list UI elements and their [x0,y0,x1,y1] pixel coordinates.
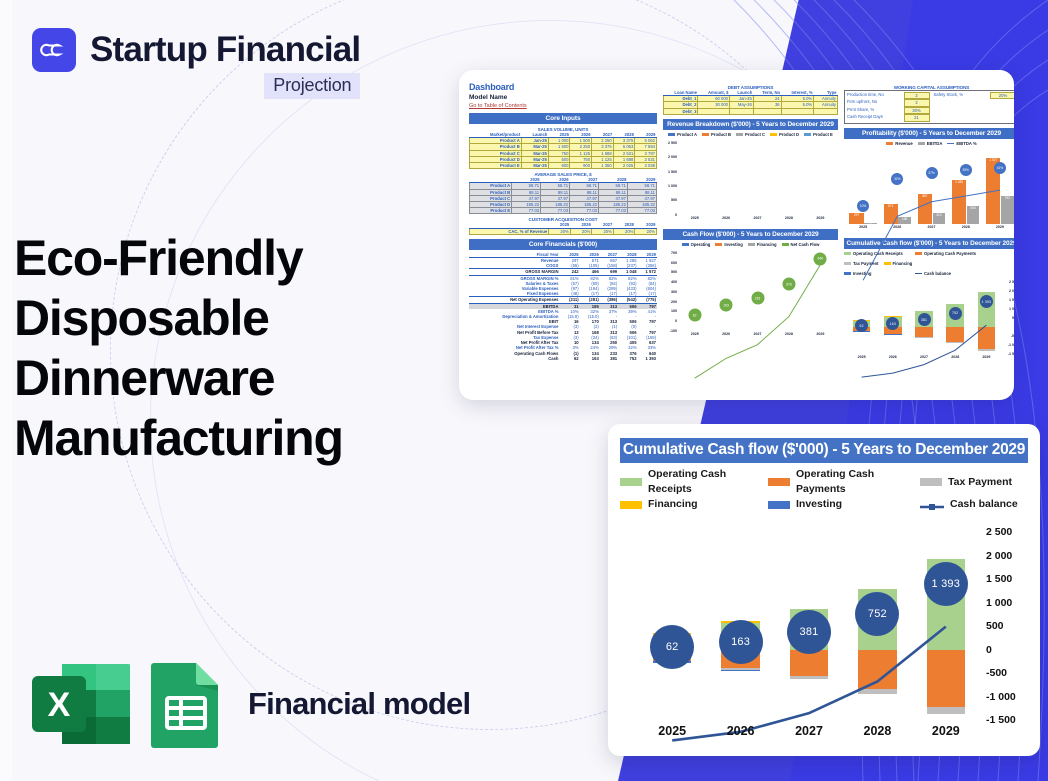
y-tick-label: -500 [986,667,1007,679]
brand-subtitle: Projection [264,73,360,99]
data-point-label: 640 [814,252,827,265]
data-point-label: 381 [787,610,831,654]
cash-flow-legend: Operating Investing Financing Net Cash F… [663,242,838,247]
x-tick-label: 2029 [912,724,980,746]
legend-item-operating-cash-receipts: Operating Cash Receipts [620,467,768,497]
legend-item-financing: Financing [620,497,768,512]
profitability-chart: 297315711858573131 2855061 92779210%32%3… [844,148,1014,234]
dashboard-title: Dashboard [469,82,657,92]
revenue-breakdown-legend: Product A Product B Product C Product D … [663,132,838,137]
legend-item: Product B [702,132,731,137]
wc-row: Cash Receipt Days21 [847,114,930,121]
page-title: Eco-Friendly Disposable Dinnerware Manuf… [14,228,484,468]
headline-line-2: Disposable [14,288,484,348]
y-axis: 2 5002 0001 5001 0005000-500-1 000-1 500 [982,532,1028,720]
debt-assumptions-table: Loan Name Amount, $ Launch Term, No Inte… [663,90,838,115]
decorative-left-strip [0,0,12,781]
legend-swatch [620,501,642,509]
legend-swatch [768,501,790,509]
y-tick-label: 1 500 [986,573,1012,585]
legend-item-cash-balance: Cash balance [920,497,1018,512]
legend-item: Product E [804,132,833,137]
table-row: Product E77.0377.0377.0377.0377.03 [470,208,657,214]
data-point-label: 233 [751,292,764,305]
table-row: Cash621633817521 393 [469,356,657,361]
format-badges: X Financial model [30,660,470,748]
headline-line-4: Manufacturing [14,408,484,468]
legend-item: Product D [770,132,799,137]
core-financials-banner: Core Financials ($'000) [469,239,657,250]
table-row: Debt_230 000May-26365.0%Annuity [664,102,838,108]
chart-title: Cumulative Cash flow ($'000) - 5 Years t… [620,438,1028,463]
revenue-breakdown-banner: Revenue Breakdown ($'000) - 5 Years to D… [663,119,838,130]
data-point-label: 163 [720,299,733,312]
y-axis: 2 5002 0001 500 1 0005000 [663,143,678,215]
data-point-label: 1 393 [924,562,968,606]
revenue-breakdown-chart: 2 5002 0001 500 1 0005000 20252026202720… [663,139,838,225]
table-row: Debt_3 [664,108,838,114]
wc-row: Prmt Share, %30% [847,107,930,114]
table-header-row: Loan Name Amount, $ Launch Term, No Inte… [664,90,838,96]
legend-line-swatch [920,501,944,509]
legend-item: Operating [682,242,711,247]
data-point-label: 1 393 [980,295,993,308]
x-axis: 20252026202720282029 [846,355,1002,364]
legend-swatch [768,478,790,486]
y-tick-label: 500 [986,620,1004,632]
cumulative-cash-flow-card: Cumulative Cash flow ($'000) - 5 Years t… [608,424,1040,756]
y-tick-label: -1 500 [986,714,1016,726]
y-tick-label: 2 500 [986,526,1012,538]
cash-flow-chart: 700600500 400300200 1000-100 62163233376… [663,249,838,341]
dashboard-screenshot-card: Dashboard Model Name Go to Table of Cont… [459,70,1014,400]
dashboard-model-name: Model Name [469,94,657,101]
legend-swatch [920,478,942,486]
y-axis: 2 5002 0001 500 1 0005000 -500-1 000-1 5… [1004,282,1014,354]
legend-item: Product C [736,132,765,137]
x-tick-label: 2027 [775,724,843,746]
x-axis: 20252026202720282029 [679,216,836,225]
google-sheets-icon [148,660,224,748]
legend-item: Investing [715,242,742,247]
table-of-contents-link[interactable]: Go to Table of Contents [469,103,657,109]
dashboard-right-column: WORKING CAPITAL ASSUMPTIONS Production t… [844,82,1014,392]
legend-item: Revenue [886,141,912,146]
headline-line-3: Dinnerware [14,348,484,408]
chart-legend: Operating Cash Receipts Operating Cash P… [620,467,1028,512]
data-point-label: 32% [891,173,903,185]
data-point-label: 10% [857,200,869,212]
data-point-label: 62 [650,625,694,669]
data-point-label: 62 [855,319,868,332]
x-axis: 20252026202720282029 [679,332,836,341]
average-price-table: 2025 2026 2027 2028 2029 Product A58.715… [469,177,657,214]
data-point-label: 62 [688,309,701,322]
cac-table: 2025 2026 2027 2028 2029 CAC, % of Reven… [469,222,657,234]
wc-row: Firm upfront, No2 [847,99,930,106]
core-financials-table: Fiscal Year 2025 2026 2027 2028 2029 Rev… [469,252,657,361]
legend-item: EBITDA % [947,141,976,146]
e-loop-icon [32,28,76,72]
profitability-banner: Profitability ($'000) - 5 Years to Decem… [844,128,1014,139]
table-row: CAC, % of Revenue20%20%20%20%20% [470,228,657,234]
data-point-label: 39% [960,164,972,176]
bars-and-line: 621633817521 393 [638,532,980,720]
profitability-legend: Revenue EBITDA EBITDA % [844,141,1014,146]
table-header-row: Market/product Launch 2025 2026 2027 202… [470,132,657,138]
data-point-label: 37% [926,167,938,179]
cumulative-cash-flow-mini-chart: 2 5002 0001 500 1 0005000 -500-1 000-1 5… [844,278,1014,364]
sales-volume-table: Market/product Launch 2025 2026 2027 202… [469,132,657,169]
y-tick-label: 0 [986,644,992,656]
legend-item-investing: Investing [768,497,920,512]
legend-item: Net Cash Flow [782,242,820,247]
table-row: Product EMar-256009001 3502 0253 038 [470,163,657,169]
legend-item: Product A [668,132,697,137]
headline-line-1: Eco-Friendly [14,228,484,288]
data-point-label: 41% [994,162,1006,174]
dashboard-middle-column: DEBT ASSUMPTIONS Loan Name Amount, $ Lau… [663,82,838,392]
y-tick-label: -1 000 [986,691,1016,703]
core-inputs-banner: Core Inputs [469,113,657,124]
legend-item-tax-payment: Tax Payment [920,467,1012,497]
wc-row-extra: Safety Stock, %20% [934,92,1015,99]
footer-label: Financial model [248,686,470,722]
data-point-label: 376 [782,278,795,291]
data-point-label: 752 [949,307,962,320]
y-tick-label: 2 000 [986,550,1012,562]
x-tick-label: 2026 [706,724,774,746]
table-row: Debt_160 000Jan-25245.0%Annuity [664,96,838,102]
x-tick-label: 2025 [638,724,706,746]
dashboard-left-column: Dashboard Model Name Go to Table of Cont… [469,82,657,392]
legend-item-operating-cash-payments: Operating Cash Payments [768,467,920,497]
data-point-label: 381 [918,313,931,326]
legend-item: Financing [748,242,777,247]
data-point-label: 163 [719,620,763,664]
y-axis: 700600500 400300200 1000-100 [663,253,678,331]
x-tick-label: 2028 [843,724,911,746]
legend-swatch [620,478,642,486]
wc-row: Production time, No2 [847,92,930,99]
x-axis: 20252026202720282029 [638,724,980,746]
working-capital-box: Production time, No2 Firm upfront, No2 P… [844,90,1014,124]
brand-title: Startup Financial [90,28,360,72]
y-tick-label: 1 000 [986,597,1012,609]
chart-plot-area: 2 5002 0001 5001 0005000-500-1 000-1 500… [620,532,1028,748]
brand-header: Startup Financial Projection [32,28,360,99]
legend-item: EBITDA [918,141,943,146]
x-axis: 20252026202720282029 [846,225,1014,234]
cash-flow-banner: Cash Flow ($'000) - 5 Years to December … [663,229,838,240]
svg-text:X: X [48,686,71,724]
microsoft-excel-icon: X [30,660,134,748]
